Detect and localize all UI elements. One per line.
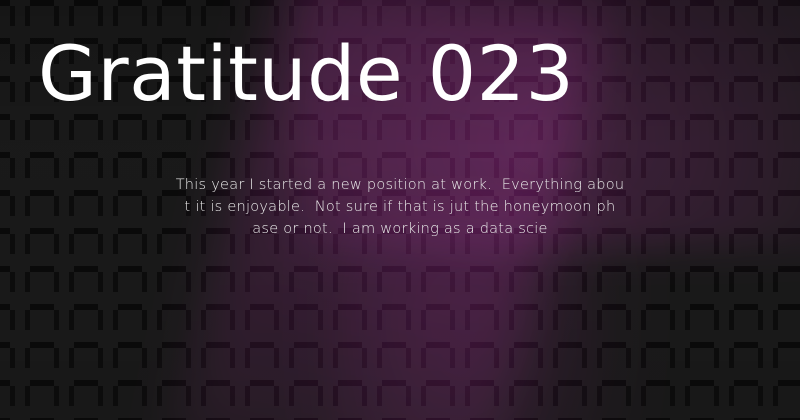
card-content: Gratitude 023 This year I started a new …: [0, 0, 800, 420]
body-line-1: This year I started a new position at wo…: [120, 174, 680, 196]
card-title: Gratitude 023: [38, 36, 762, 112]
card-body-text: This year I started a new position at wo…: [120, 174, 680, 240]
gratitude-card: Gratitude 023 This year I started a new …: [0, 0, 800, 420]
body-line-3: ase or not. I am working as a data scie: [120, 218, 680, 240]
body-line-2: t it is enjoyable. Not sure if that is j…: [120, 196, 680, 218]
